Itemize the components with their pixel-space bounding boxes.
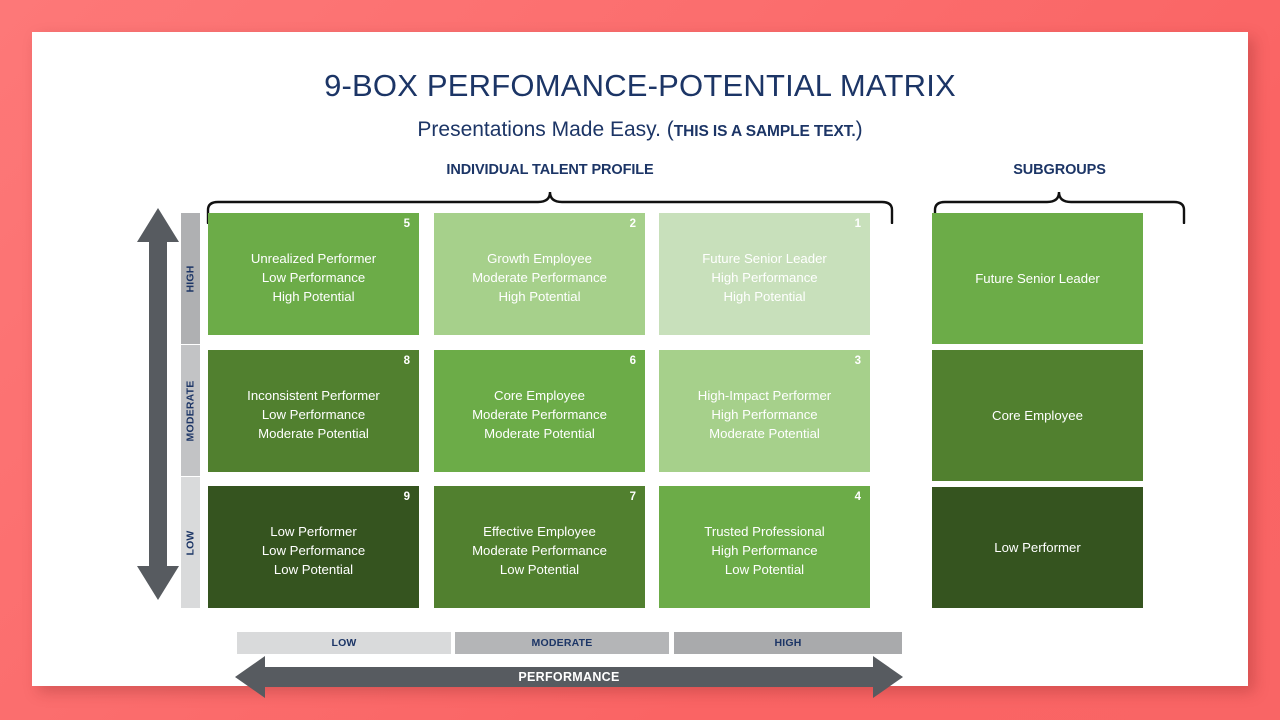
page-title: 9-BOX PERFOMANCE-POTENTIAL MATRIX: [32, 68, 1248, 104]
nine-box-matrix: 5 Unrealized Performer Low Performance H…: [208, 213, 870, 608]
vertical-tick-low-label: LOW: [185, 530, 197, 555]
matrix-cell-1-potential: High Potential: [723, 287, 805, 306]
matrix-cell-3-performance: High Performance: [711, 405, 817, 424]
matrix-cell-7-number: 7: [630, 491, 636, 503]
matrix-cell-6-potential: Moderate Potential: [484, 424, 595, 443]
subgroup-box-core-employee[interactable]: Core Employee: [932, 350, 1143, 481]
matrix-cell-3-name: High-Impact Performer: [698, 386, 831, 405]
matrix-cell-8-name: Inconsistent Performer: [247, 386, 380, 405]
vertical-tick-low: LOW: [181, 477, 200, 608]
subgroup-box-future-senior-leader[interactable]: Future Senior Leader: [932, 213, 1143, 344]
matrix-cell-9-name: Low Performer: [270, 522, 356, 541]
matrix-cell-2-name: Growth Employee: [487, 249, 592, 268]
matrix-cell-4-name: Trusted Professional: [704, 522, 824, 541]
matrix-cell-5[interactable]: 5 Unrealized Performer Low Performance H…: [208, 213, 419, 335]
matrix-cell-3-potential: Moderate Potential: [709, 424, 820, 443]
subtitle-sample-text: THIS IS A SAMPLE TEXT.: [674, 123, 856, 140]
matrix-cell-2-number: 2: [630, 218, 636, 230]
matrix-cell-5-performance: Low Performance: [262, 268, 365, 287]
matrix-cell-6-number: 6: [630, 355, 636, 367]
matrix-cell-7-name: Effective Employee: [483, 522, 596, 541]
header-subgroups: SUBGROUPS: [932, 162, 1187, 178]
matrix-cell-7-performance: Moderate Performance: [472, 541, 607, 560]
subtitle-main-text: Presentations Made Easy. (: [417, 118, 673, 141]
vertical-tick-moderate: MODERATE: [181, 345, 200, 476]
matrix-cell-1-name: Future Senior Leader: [702, 249, 827, 268]
matrix-cell-8[interactable]: 8 Inconsistent Performer Low Performance…: [208, 350, 419, 472]
matrix-cell-2-performance: Moderate Performance: [472, 268, 607, 287]
horizontal-tick-low: LOW: [237, 632, 451, 654]
matrix-cell-9-potential: Low Potential: [274, 560, 353, 579]
matrix-cell-5-number: 5: [404, 218, 410, 230]
matrix-cell-6[interactable]: 6 Core Employee Moderate Performance Mod…: [434, 350, 645, 472]
matrix-cell-6-performance: Moderate Performance: [472, 405, 607, 424]
matrix-cell-6-name: Core Employee: [494, 386, 585, 405]
slide-canvas: 9-BOX PERFOMANCE-POTENTIAL MATRIX Presen…: [32, 32, 1248, 686]
matrix-cell-9-performance: Low Performance: [262, 541, 365, 560]
header-individual-talent-profile: INDIVIDUAL TALENT PROFILE: [205, 162, 895, 178]
leadership-potential-arrow-icon: [137, 208, 179, 600]
subtitle-close-paren: ): [856, 118, 863, 141]
horizontal-tick-high: HIGH: [674, 632, 902, 654]
matrix-cell-9[interactable]: 9 Low Performer Low Performance Low Pote…: [208, 486, 419, 608]
matrix-cell-1[interactable]: 1 Future Senior Leader High Performance …: [659, 213, 870, 335]
matrix-cell-9-number: 9: [404, 491, 410, 503]
matrix-cell-1-performance: High Performance: [711, 268, 817, 287]
matrix-cell-4-potential: Low Potential: [725, 560, 804, 579]
matrix-cell-7-potential: Low Potential: [500, 560, 579, 579]
page-subtitle: Presentations Made Easy. (THIS IS A SAMP…: [32, 118, 1248, 142]
matrix-cell-1-number: 1: [855, 218, 861, 230]
subgroup-box-low-performer[interactable]: Low Performer: [932, 487, 1143, 608]
matrix-cell-4-performance: High Performance: [711, 541, 817, 560]
horizontal-tick-moderate: MODERATE: [455, 632, 669, 654]
matrix-cell-8-number: 8: [404, 355, 410, 367]
matrix-cell-2-potential: High Potential: [498, 287, 580, 306]
matrix-cell-2[interactable]: 2 Growth Employee Moderate Performance H…: [434, 213, 645, 335]
vertical-tick-moderate-label: MODERATE: [185, 380, 197, 441]
matrix-cell-7[interactable]: 7 Effective Employee Moderate Performanc…: [434, 486, 645, 608]
performance-arrow-icon: [235, 656, 903, 698]
matrix-cell-8-potential: Moderate Potential: [258, 424, 369, 443]
vertical-tick-high: HIGH: [181, 213, 200, 344]
matrix-cell-4-number: 4: [855, 491, 861, 503]
matrix-cell-5-potential: High Potential: [272, 287, 354, 306]
matrix-cell-3[interactable]: 3 High-Impact Performer High Performance…: [659, 350, 870, 472]
matrix-cell-4[interactable]: 4 Trusted Professional High Performance …: [659, 486, 870, 608]
matrix-cell-5-name: Unrealized Performer: [251, 249, 376, 268]
vertical-tick-high-label: HIGH: [185, 265, 197, 292]
matrix-cell-8-performance: Low Performance: [262, 405, 365, 424]
matrix-cell-3-number: 3: [855, 355, 861, 367]
